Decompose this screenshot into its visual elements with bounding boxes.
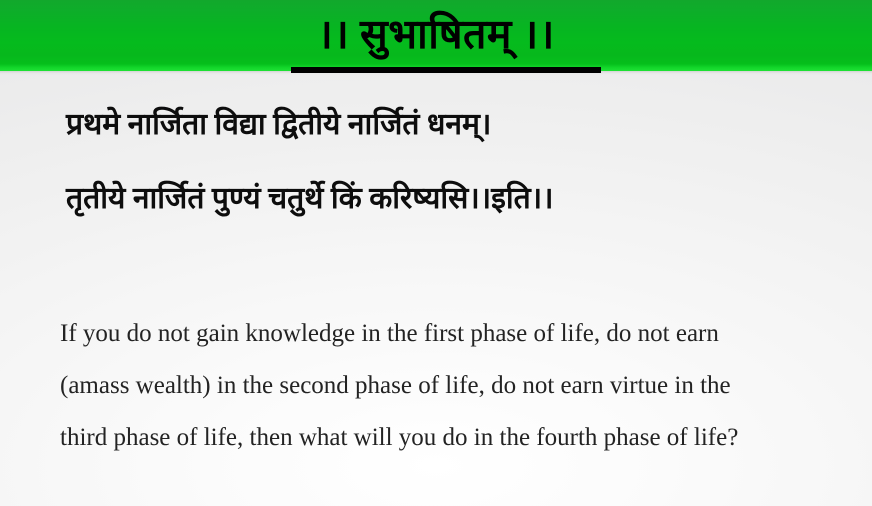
english-translation: If you do not gain knowledge in the firs… [60, 320, 856, 476]
verse-line-2: तृतीये नार्जितं पुण्यं चतुर्थे किं करिष्… [66, 182, 856, 216]
translation-line-1: If you do not gain knowledge in the firs… [60, 320, 856, 347]
slide-title: ।। सुभाषितम् ।। [0, 8, 872, 60]
sanskrit-verse: प्रथमे नार्जिता विद्या द्वितीये नार्जितं… [66, 108, 856, 256]
translation-line-2: (amass wealth) in the second phase of li… [60, 372, 856, 399]
slide-title-underline [291, 67, 601, 73]
presentation-slide: ।। सुभाषितम् ।। प्रथमे नार्जिता विद्या द… [0, 0, 872, 506]
translation-line-3: third phase of life, then what will you … [60, 424, 856, 451]
verse-line-1: प्रथमे नार्जिता विद्या द्वितीये नार्जितं… [66, 108, 856, 142]
